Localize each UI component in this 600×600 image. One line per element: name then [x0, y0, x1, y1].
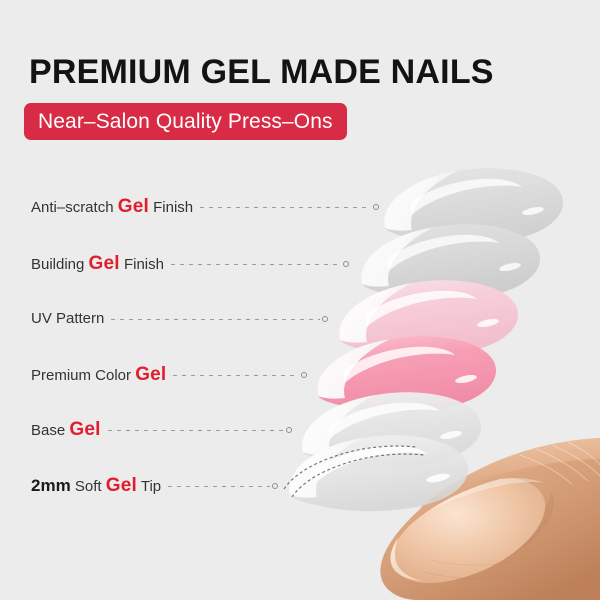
feature-row-anti-scratch-gel-finish: Anti–scratch Gel Finish [31, 196, 371, 218]
feature-row-uv-pattern: UV Pattern [31, 308, 320, 330]
fingertip [380, 438, 600, 600]
layer-building-gel-finish [361, 224, 540, 300]
feature-label: 2mm Soft Gel Tip [31, 475, 161, 498]
feature-row-premium-color-gel: Premium Color Gel [31, 364, 299, 386]
feature-label: UV Pattern [31, 308, 104, 330]
feature-label: Building Gel Finish [31, 253, 164, 276]
page-title: PREMIUM GEL MADE NAILS [29, 52, 494, 92]
feature-row-2mm-soft-gel-tip: 2mm Soft Gel Tip [31, 475, 270, 497]
subtitle-badge: Near–Salon Quality Press–Ons [24, 103, 347, 140]
leader-line [171, 264, 341, 265]
feature-label: Base Gel [31, 419, 101, 442]
product-infographic: PREMIUM GEL MADE NAILS Near–Salon Qualit… [0, 0, 600, 600]
feature-label: Anti–scratch Gel Finish [31, 196, 193, 219]
leader-line [111, 319, 320, 320]
leader-line [173, 375, 299, 376]
layer-uv-pattern [339, 280, 518, 356]
layer-base-gel [302, 392, 481, 468]
feature-row-building-gel-finish: Building Gel Finish [31, 253, 341, 275]
leader-line [108, 430, 284, 431]
leader-line [200, 207, 371, 208]
leader-line [168, 486, 270, 487]
feature-row-base-gel: Base Gel [31, 419, 284, 441]
layer-soft-gel-tip [284, 435, 468, 511]
layer-anti-scratch-gel-finish [384, 168, 563, 244]
layer-premium-color-gel [317, 336, 496, 412]
feature-label: Premium Color Gel [31, 364, 166, 387]
